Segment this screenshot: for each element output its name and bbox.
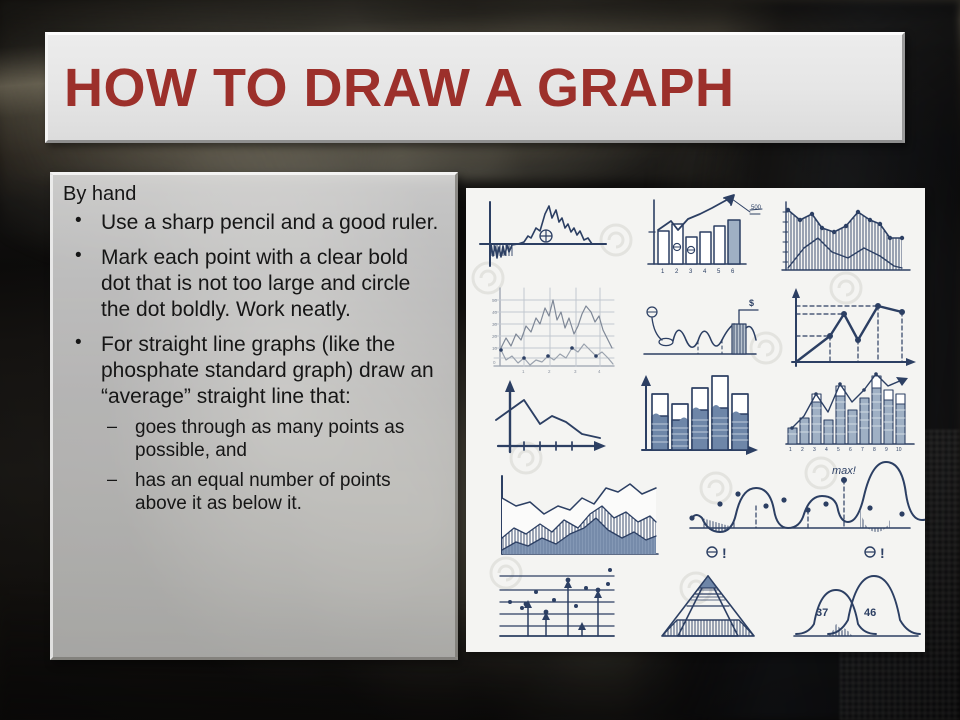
sub-list-item: – has an equal number of points above it… [101,469,441,522]
bullet-list: • Use a sharp pencil and a good ruler. •… [61,210,445,531]
svg-text:30: 30 [492,322,498,327]
svg-text:4: 4 [825,447,828,453]
svg-text:37: 37 [816,607,828,619]
svg-text:2: 2 [801,447,804,453]
illustration-panel: 123 456 500 [466,188,925,652]
svg-text:10: 10 [492,346,498,351]
page-title: HOW TO DRAW A GRAPH [48,61,734,115]
svg-text:1: 1 [789,447,792,453]
svg-text:!: ! [880,545,885,561]
list-item: • For straight line graphs (like the pho… [61,332,445,531]
svg-text:!: ! [722,545,727,561]
body-text-panel: By hand • Use a sharp pencil and a good … [50,172,458,660]
title-panel: HOW TO DRAW A GRAPH [45,32,905,143]
svg-text:50: 50 [492,298,498,303]
sub-bullet-list: – goes through as many points as possibl… [101,416,441,522]
list-item: • Mark each point with a clear bold dot … [61,245,445,332]
sub-list-item: – goes through as many points as possibl… [101,416,441,469]
list-item: • Use a sharp pencil and a good ruler. [61,210,445,245]
svg-text:20: 20 [492,334,498,339]
dash-marker: – [107,415,117,437]
svg-text:6: 6 [849,447,852,453]
svg-text:3: 3 [813,447,816,453]
svg-text:$: $ [749,298,754,308]
svg-text:40: 40 [492,310,498,315]
lead-text: By hand [63,183,445,207]
sub-list-item-label: has an equal number of points above it a… [135,470,391,515]
list-item-label: For straight line graphs (like the phosp… [101,333,434,408]
list-item-label: Use a sharp pencil and a good ruler. [101,211,438,234]
svg-text:10: 10 [896,447,902,453]
slide: HOW TO DRAW A GRAPH By hand • Use a shar… [0,0,960,720]
sub-list-item-label: goes through as many points as possible,… [135,417,404,462]
svg-text:500: 500 [751,205,762,211]
svg-text:7: 7 [861,447,864,453]
svg-text:max!: max! [832,465,856,477]
dash-marker: – [107,468,117,490]
svg-text:8: 8 [873,447,876,453]
hand-drawn-chart-sketches: 123 456 500 [466,188,925,652]
svg-text:9: 9 [885,447,888,453]
bullet-marker: • [75,209,82,234]
list-item-label: Mark each point with a clear bold dot th… [101,246,410,321]
svg-text:5: 5 [837,447,840,453]
bullet-marker: • [75,331,82,356]
bullet-marker: • [75,244,82,269]
svg-text:46: 46 [864,607,876,619]
